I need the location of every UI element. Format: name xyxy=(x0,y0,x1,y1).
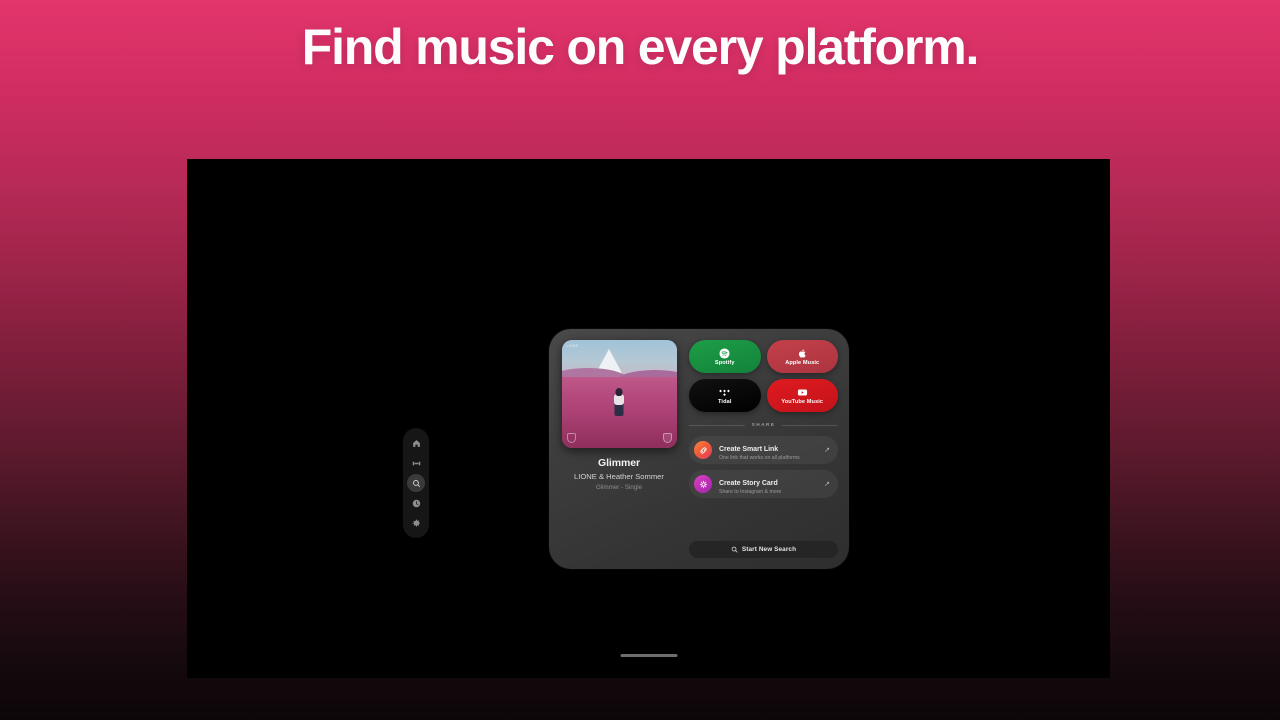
platform-label-apple-music: Apple Music xyxy=(785,360,819,366)
link-icon xyxy=(694,441,712,459)
search-icon xyxy=(731,546,738,553)
track-info-panel: LIONE Glimmer LIONE & Heather Sommer Gli… xyxy=(560,340,678,558)
track-artist: LIONE & Heather Sommer xyxy=(574,472,664,481)
platform-button-grid: Spotify Apple Music xyxy=(689,340,838,412)
apple-icon xyxy=(797,348,808,359)
artwork-badge-left xyxy=(567,433,576,443)
platform-button-youtube-music[interactable]: YouTube Music xyxy=(767,379,839,412)
artwork-badge-right xyxy=(663,433,672,443)
search-icon xyxy=(412,479,421,488)
arrow-up-right-icon: ↗ xyxy=(824,480,830,488)
library-icon xyxy=(412,459,421,468)
platform-label-spotify: Spotify xyxy=(715,360,735,366)
artwork-figure-head xyxy=(616,388,623,396)
song-result-card: LIONE Glimmer LIONE & Heather Sommer Gli… xyxy=(549,329,849,569)
share-section-divider: SHARE xyxy=(689,423,838,428)
dock-item-search[interactable] xyxy=(407,474,425,492)
dock-item-settings[interactable] xyxy=(407,514,425,532)
actions-panel: Spotify Apple Music xyxy=(689,340,838,558)
platform-button-spotify[interactable]: Spotify xyxy=(689,340,761,373)
story-card-title: Create Story Card xyxy=(719,480,778,487)
story-card-text: Create Story Card Share to Instagram & m… xyxy=(719,473,817,496)
artwork-watermark: LIONE xyxy=(567,344,579,348)
story-card-subtitle: Share to Instagram & more xyxy=(719,489,817,495)
page-headline: Find music on every platform. xyxy=(0,18,1280,77)
platform-button-tidal[interactable]: Tidal xyxy=(689,379,761,412)
camera-icon xyxy=(694,475,712,493)
home-indicator[interactable] xyxy=(620,654,677,657)
smart-link-text: Create Smart Link One link that works on… xyxy=(719,439,817,462)
clock-icon xyxy=(412,499,421,508)
track-title: Glimmer xyxy=(598,457,640,469)
app-dock xyxy=(403,428,429,538)
platform-button-apple-music[interactable]: Apple Music xyxy=(767,340,839,373)
platform-label-youtube-music: YouTube Music xyxy=(781,399,823,405)
arrow-up-right-icon: ↗ xyxy=(824,446,830,454)
dock-item-library[interactable] xyxy=(407,454,425,472)
share-section-label: SHARE xyxy=(752,423,776,428)
smart-link-title: Create Smart Link xyxy=(719,446,778,453)
divider-line-right xyxy=(782,425,838,426)
platform-label-tidal: Tidal xyxy=(718,399,731,405)
start-new-search-label: Start New Search xyxy=(742,546,796,553)
track-album: Glimmer - Single xyxy=(596,484,642,491)
album-artwork: LIONE xyxy=(562,340,677,448)
smart-link-subtitle: One link that works on all platforms xyxy=(719,455,817,461)
device-screen: LIONE Glimmer LIONE & Heather Sommer Gli… xyxy=(187,159,1110,678)
create-story-card-button[interactable]: Create Story Card Share to Instagram & m… xyxy=(689,470,838,498)
spotify-icon xyxy=(719,348,730,359)
dock-item-home[interactable] xyxy=(407,434,425,452)
tidal-icon xyxy=(719,387,730,398)
divider-line-left xyxy=(689,425,745,426)
start-new-search-button[interactable]: Start New Search xyxy=(689,541,838,558)
gear-icon xyxy=(412,519,421,528)
artwork-figure-top xyxy=(614,394,624,405)
create-smart-link-button[interactable]: Create Smart Link One link that works on… xyxy=(689,436,838,464)
youtube-icon xyxy=(797,387,808,398)
home-icon xyxy=(412,439,421,448)
dock-item-history[interactable] xyxy=(407,494,425,512)
